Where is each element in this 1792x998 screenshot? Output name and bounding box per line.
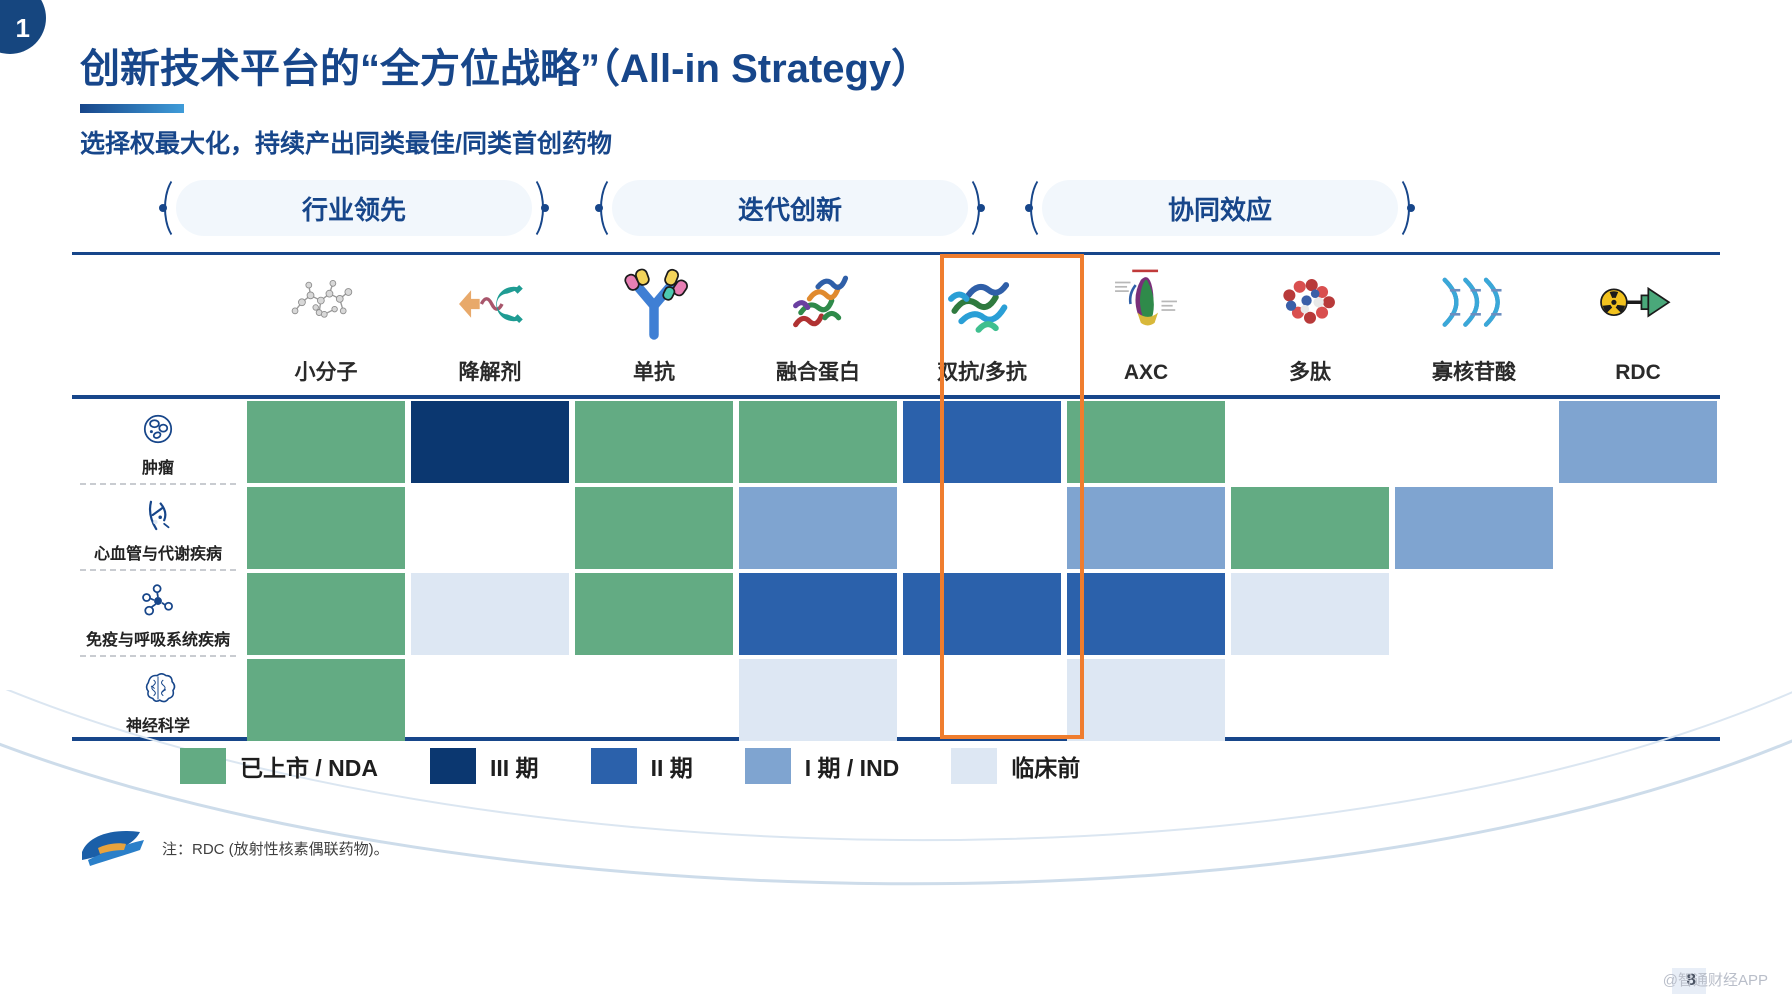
cell-status-swatch [411,401,569,483]
cell-status-swatch [1067,401,1225,483]
column-label: 降解剂 [408,352,572,394]
cell-status-swatch [575,487,733,569]
matrix-column-header-5: 双抗/多抗 [900,256,1064,394]
matrix-cell-r3-c7[interactable] [1228,571,1392,657]
matrix-cell-r2-c7[interactable] [1228,485,1392,571]
legend-label: I 期 / IND [805,749,900,783]
matrix-column-header-3: 单抗 [572,256,736,394]
slide-badge-number: 1 [16,13,30,44]
column-label: 多肽 [1228,352,1392,394]
matrix-cell-r1-c1[interactable] [244,399,408,485]
legend-item-2: III 期 [430,748,539,784]
pill-dot-left-icon [1025,204,1033,212]
degrader-icon [447,261,533,347]
cell-status-swatch [411,573,569,655]
cell-status-swatch [1231,573,1389,655]
cell-status-swatch [1559,401,1717,483]
column-label: 寡核苷酸 [1392,352,1556,394]
bracket-right-icon [510,174,544,242]
row-icon-wrapper [136,578,180,624]
pill-dot-left-icon [159,204,167,212]
column-icon-wrapper [1228,256,1392,352]
cell-status-swatch [739,487,897,569]
legend-item-1: 已上市 / NDA [180,748,378,784]
matrix-cell-r1-c8[interactable] [1392,399,1556,485]
pill-iterative-innovation: 迭代创新 [612,180,968,236]
matrix-cell-r2-c3[interactable] [572,485,736,571]
matrix-cell-r2-c9[interactable] [1556,485,1720,571]
matrix-cell-r1-c3[interactable] [572,399,736,485]
row-header-2: 心血管与代谢疾病 [72,485,244,571]
pill-dot-right-icon [1407,204,1415,212]
column-icon-wrapper [900,256,1064,352]
tumor-cell-icon [136,407,180,451]
page-subtitle: 选择权最大化，持续产出同类最佳/同类首创药物 [80,124,612,160]
matrix-row-1: 肿瘤 [72,399,1720,485]
matrix-cell-r3-c1[interactable] [244,571,408,657]
matrix-cell-r3-c6[interactable] [1064,571,1228,657]
legend-color-swatch [180,748,226,784]
legend-label: 临床前 [1011,749,1080,783]
legend-item-4: I 期 / IND [745,748,900,784]
row-label: 肿瘤 [142,454,174,478]
legend-label: 已上市 / NDA [240,749,378,783]
matrix-column-header-row: 小分子 降解剂 单抗 融合蛋白 [72,256,1720,394]
matrix-cell-r1-c9[interactable] [1556,399,1720,485]
column-label: 双抗/多抗 [900,352,1064,394]
legend-label: II 期 [651,749,693,783]
fusion-protein-icon [775,261,861,347]
matrix-cell-r3-c8[interactable] [1392,571,1556,657]
matrix-cell-r1-c2[interactable] [408,399,572,485]
monoclonal-antibody-icon [611,261,697,347]
cell-status-swatch [575,573,733,655]
small-molecule-icon [283,261,369,347]
legend-item-3: II 期 [591,748,693,784]
cell-status-swatch [1231,487,1389,569]
page-title: 创新技术平台的“全方位战略”（All-in Strategy） [80,36,931,94]
immunology-respiratory-icon [136,579,180,623]
legend-color-swatch [951,748,997,784]
matrix-column-header-8: 寡核苷酸 [1392,256,1556,394]
row-header-1: 肿瘤 [72,399,244,485]
cell-status-swatch [247,573,405,655]
legend-color-swatch [430,748,476,784]
pill-dot-left-icon [595,204,603,212]
bracket-right-icon [946,174,980,242]
matrix-cell-r2-c8[interactable] [1392,485,1556,571]
pill-industry-leading: 行业领先 [176,180,532,236]
radio-conjugate-icon [1595,261,1681,347]
matrix-cell-r2-c2[interactable] [408,485,572,571]
peptide-icon [1267,261,1353,347]
slide-badge: 1 [0,0,46,54]
cell-status-swatch [739,401,897,483]
matrix-row-3: 免疫与呼吸系统疾病 [72,571,1720,657]
pill-synergy: 协同效应 [1042,180,1398,236]
cell-status-swatch [1067,487,1225,569]
title-underline-rule [80,104,184,113]
cell-status-swatch [1395,487,1553,569]
matrix-column-header-1: 小分子 [244,256,408,394]
cell-status-swatch [739,573,897,655]
column-label: 单抗 [572,352,736,394]
matrix-cell-r2-c4[interactable] [736,485,900,571]
matrix-cell-r1-c5[interactable] [900,399,1064,485]
matrix-corner-spacer [72,256,244,394]
cell-status-swatch [903,401,1061,483]
matrix-cell-r1-c6[interactable] [1064,399,1228,485]
cardio-metabolic-icon [136,493,180,537]
legend-color-swatch [745,748,791,784]
column-label: RDC [1556,352,1720,394]
matrix-column-header-9: RDC [1556,256,1720,394]
cell-status-swatch [247,487,405,569]
pill-label: 行业领先 [302,190,406,227]
cell-status-swatch [247,401,405,483]
column-icon-wrapper [1392,256,1556,352]
bracket-right-icon [1376,174,1410,242]
cell-status-swatch [903,573,1061,655]
pill-dot-right-icon [977,204,985,212]
watermark: @智通财经APP [1663,969,1768,990]
row-label: 免疫与呼吸系统疾病 [86,626,230,650]
column-icon-wrapper [244,256,408,352]
matrix-cell-r2-c1[interactable] [244,485,408,571]
legend-label: III 期 [490,749,539,783]
column-icon-wrapper [408,256,572,352]
row-icon-wrapper [136,492,180,538]
column-icon-wrapper [736,256,900,352]
bracket-left-icon [164,174,198,242]
matrix-cell-r3-c9[interactable] [1556,571,1720,657]
legend-color-swatch [591,748,637,784]
axc-conjugate-icon [1103,261,1189,347]
matrix-cell-r2-c6[interactable] [1064,485,1228,571]
cell-status-swatch [1067,573,1225,655]
bispecific-antibody-icon [939,261,1025,347]
matrix-column-header-4: 融合蛋白 [736,256,900,394]
matrix-row-2: 心血管与代谢疾病 [72,485,1720,571]
column-icon-wrapper [572,256,736,352]
row-header-3: 免疫与呼吸系统疾病 [72,571,244,657]
row-label: 心血管与代谢疾病 [94,540,222,564]
bracket-left-icon [1030,174,1064,242]
matrix-cell-r1-c7[interactable] [1228,399,1392,485]
footnote: 注：RDC (放射性核素偶联药物)。 [162,838,389,859]
matrix-cell-r2-c5[interactable] [900,485,1064,571]
row-icon-wrapper [136,406,180,452]
company-logo-icon [78,826,152,868]
column-icon-wrapper [1556,256,1720,352]
matrix-column-header-2: 降解剂 [408,256,572,394]
matrix-column-header-7: 多肽 [1228,256,1392,394]
column-icon-wrapper [1064,256,1228,352]
matrix-column-header-6: AXC [1064,256,1228,394]
legend-item-5: 临床前 [951,748,1080,784]
bracket-left-icon [600,174,634,242]
column-label: 融合蛋白 [736,352,900,394]
column-label: 小分子 [244,352,408,394]
pill-dot-right-icon [541,204,549,212]
status-legend: 已上市 / NDAIII 期II 期I 期 / IND临床前 [180,748,1132,784]
matrix-top-rule [72,252,1720,255]
oligonucleotide-icon [1431,261,1517,347]
matrix-cell-r1-c4[interactable] [736,399,900,485]
pill-label: 迭代创新 [738,190,842,227]
matrix-cell-r3-c5[interactable] [900,571,1064,657]
matrix-cell-r3-c2[interactable] [408,571,572,657]
cell-status-swatch [575,401,733,483]
matrix-cell-r3-c3[interactable] [572,571,736,657]
column-label: AXC [1064,352,1228,394]
pill-label: 协同效应 [1168,190,1272,227]
matrix-cell-r3-c4[interactable] [736,571,900,657]
